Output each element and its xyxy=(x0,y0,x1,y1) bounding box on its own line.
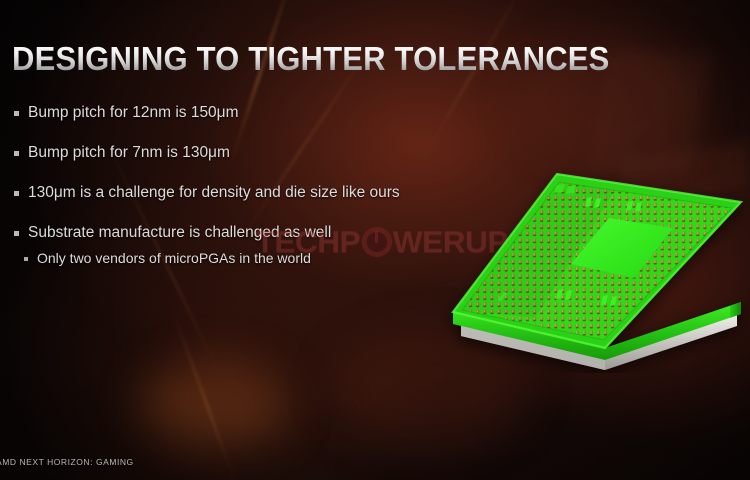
chip-body xyxy=(445,168,745,370)
bullet-text: Bump pitch for 7nm is 130μm xyxy=(28,144,230,162)
bullet-item: Bump pitch for 7nm is 130μm xyxy=(12,144,482,162)
substrate-right-edge xyxy=(730,302,741,318)
bullet-item-sub: Only two vendors of microPGAs in the wor… xyxy=(12,250,482,266)
bullet-marker-icon xyxy=(14,191,19,196)
bullet-text: Only two vendors of microPGAs in the wor… xyxy=(37,250,311,266)
bullet-marker-icon xyxy=(24,257,28,261)
bullet-text: Bump pitch for 12nm is 150μm xyxy=(28,104,239,122)
bullet-text: 130μm is a challenge for density and die… xyxy=(28,184,400,202)
bullet-marker-icon xyxy=(14,111,19,116)
bullet-marker-icon xyxy=(14,231,19,236)
slide-footer: AMD NEXT HORIZON: GAMING xyxy=(0,457,134,467)
bullet-list: Bump pitch for 12nm is 150μm Bump pitch … xyxy=(12,104,482,266)
cpu-pga-render-svg xyxy=(425,138,750,373)
presentation-slide: DESIGNING TO TIGHTER TOLERANCES Bump pit… xyxy=(0,0,750,480)
bullet-item: Bump pitch for 12nm is 150μm xyxy=(12,104,482,122)
bullet-item: Substrate manufacture is challenged as w… xyxy=(12,224,482,242)
bullet-item: 130μm is a challenge for density and die… xyxy=(12,184,482,202)
slide-title: DESIGNING TO TIGHTER TOLERANCES xyxy=(12,42,610,75)
cpu-package-image xyxy=(425,138,750,373)
bullet-marker-icon xyxy=(14,151,19,156)
bullet-text: Substrate manufacture is challenged as w… xyxy=(28,224,331,242)
